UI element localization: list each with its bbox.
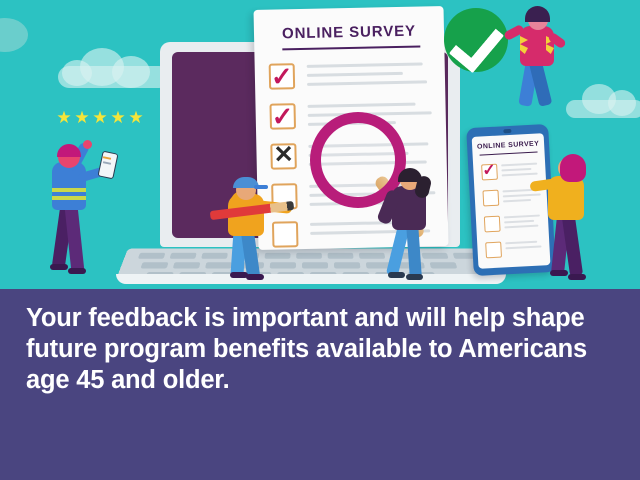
title-divider — [282, 46, 420, 51]
shoe — [406, 274, 423, 280]
shoe — [50, 264, 68, 270]
stripe — [52, 196, 86, 200]
caption-banner: Your feedback is important and will help… — [0, 289, 640, 480]
phone-title-divider — [480, 152, 538, 156]
smartphone-icon — [97, 151, 118, 180]
phone-survey-title: ONLINE SURVEY — [472, 140, 544, 151]
text-line — [308, 103, 416, 108]
shoe — [246, 274, 264, 280]
star-icon: ★ — [128, 110, 144, 126]
text-line — [504, 215, 540, 218]
person-with-pencil — [218, 176, 304, 280]
leg — [406, 224, 422, 279]
text-line — [307, 62, 423, 67]
cross-icon: ✕ — [273, 143, 294, 167]
check-icon: ✓ — [482, 163, 496, 180]
leg — [65, 206, 85, 273]
shoe — [568, 274, 586, 280]
caption-text: Your feedback is important and will help… — [26, 303, 616, 396]
caption-line: Your feedback is important and will help… — [26, 303, 616, 334]
phone-survey-checkbox[interactable] — [485, 242, 502, 259]
text-line — [503, 199, 531, 202]
stripe — [52, 188, 86, 192]
text-line — [503, 193, 541, 197]
text-line — [501, 163, 537, 166]
caption-line: future program benefits available to Ame… — [26, 334, 616, 365]
leg — [562, 215, 583, 276]
hair — [525, 6, 550, 22]
hair — [560, 154, 586, 182]
smartphone-survey: ONLINE SURVEY ✓ — [466, 124, 556, 276]
person-top-right — [508, 2, 586, 108]
text-line — [504, 225, 538, 228]
caption-line: age 45 and older. — [26, 365, 616, 396]
phone-survey-checkbox[interactable] — [482, 190, 499, 207]
check-icon — [449, 16, 504, 73]
text-line — [505, 245, 541, 248]
check-icon: ✓ — [271, 103, 293, 129]
person-at-phone — [544, 152, 614, 284]
verified-check-badge — [444, 8, 508, 72]
check-icon: ✓ — [271, 63, 293, 89]
phone-screen: ONLINE SURVEY ✓ — [472, 133, 551, 269]
survey-title: ONLINE SURVEY — [254, 22, 444, 43]
star-icon: ★ — [56, 110, 72, 126]
cap-brim — [254, 185, 268, 189]
shoe — [388, 272, 405, 278]
text-line — [307, 72, 403, 77]
person-with-magnifier — [386, 168, 466, 280]
illustration-card: ★ ★ ★ ★ ★ — [0, 0, 640, 480]
star-icon: ★ — [74, 110, 90, 126]
text-line — [504, 220, 534, 223]
star-rating: ★ ★ ★ ★ ★ — [56, 110, 144, 126]
phone-survey-checkbox[interactable] — [484, 216, 501, 233]
text-line — [502, 173, 538, 176]
phone-speaker — [503, 129, 511, 133]
star-icon: ★ — [92, 110, 108, 126]
text-line — [307, 80, 427, 86]
text-line — [505, 241, 537, 244]
star-icon: ★ — [110, 110, 126, 126]
hair — [57, 144, 81, 157]
shoe — [68, 268, 86, 274]
text-line — [501, 168, 531, 171]
shoe — [550, 270, 568, 276]
person-with-phone — [48, 138, 126, 278]
torso — [52, 162, 86, 210]
hand — [83, 140, 92, 149]
